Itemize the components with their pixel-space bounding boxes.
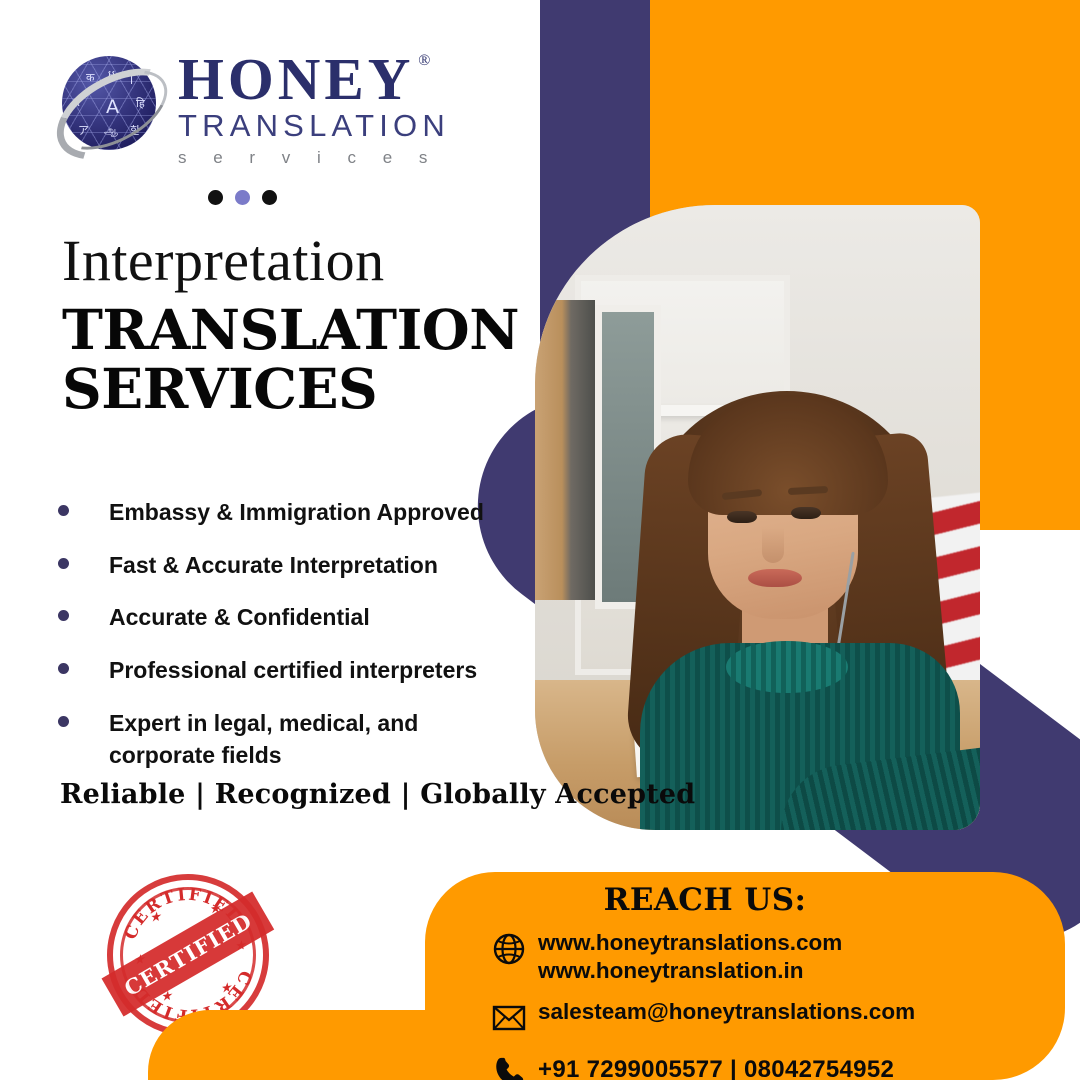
logo-honey-text: HONEY xyxy=(178,46,414,112)
phone-text[interactable]: +91 7299005577 | 08042754952 xyxy=(538,1051,894,1080)
contact-row-email[interactable]: salesteam@honeytranslations.com xyxy=(492,997,1052,1039)
globe-icon xyxy=(492,928,538,970)
contact-details: www.honeytranslations.com www.honeytrans… xyxy=(492,928,1052,1080)
headline-main-line-2: SERVICES xyxy=(62,357,532,422)
bullet-dot-icon xyxy=(58,558,69,569)
contact-row-phone[interactable]: +91 7299005577 | 08042754952 xyxy=(492,1051,1052,1080)
list-item: Fast & Accurate Interpretation xyxy=(58,549,528,582)
contact-row-website[interactable]: www.honeytranslations.com www.honeytrans… xyxy=(492,928,1052,985)
photo-eye-left xyxy=(727,511,757,523)
globe-logo-icon: क អ ا ગ A हि ア ஆ 한 xyxy=(52,48,168,166)
bullet-dot-icon xyxy=(58,716,69,727)
tagline: Reliable | Recognized | Globally Accepte… xyxy=(60,779,695,810)
decorative-dots xyxy=(208,190,277,205)
contact-panel-tail xyxy=(148,1010,448,1080)
dot-1 xyxy=(208,190,223,205)
dot-3 xyxy=(262,190,277,205)
photo-collar xyxy=(726,641,848,693)
feature-list: Embassy & Immigration Approved Fast & Ac… xyxy=(58,496,528,792)
website-line-2[interactable]: www.honeytranslation.in xyxy=(538,958,803,983)
bullet-dot-icon xyxy=(58,610,69,621)
photo-content xyxy=(535,205,980,830)
list-item-label: Embassy & Immigration Approved xyxy=(109,496,484,529)
list-item-label: Expert in legal, medical, and corporate … xyxy=(109,707,464,772)
list-item-label: Accurate & Confidential xyxy=(109,601,370,634)
photo-books xyxy=(535,300,595,600)
bullet-dot-icon xyxy=(58,505,69,516)
logo-name-primary: HONEY ® xyxy=(178,52,414,106)
list-item: Accurate & Confidential xyxy=(58,601,528,634)
website-text[interactable]: www.honeytranslations.com www.honeytrans… xyxy=(538,928,842,985)
poster-canvas: क អ ا ગ A हि ア ஆ 한 HONEY xyxy=(0,0,1080,1080)
list-item-label: Professional certified interpreters xyxy=(109,654,477,687)
bullet-dot-icon xyxy=(58,663,69,674)
headline-block: Interpretation TRANSLATION SERVICES xyxy=(62,232,532,422)
website-line-1[interactable]: www.honeytranslations.com xyxy=(538,930,842,955)
envelope-icon xyxy=(492,997,538,1039)
headline-main-line-1: TRANSLATION xyxy=(62,298,532,363)
photo-lips xyxy=(748,569,802,587)
logo-name-secondary: TRANSLATION xyxy=(178,108,450,144)
logo-name-tertiary: s e r v i c e s xyxy=(178,148,450,168)
email-text[interactable]: salesteam@honeytranslations.com xyxy=(538,997,915,1026)
dot-2 xyxy=(235,190,250,205)
phone-icon xyxy=(492,1051,538,1080)
photo-woman xyxy=(630,355,960,830)
list-item: Professional certified interpreters xyxy=(58,654,528,687)
interpreter-photo xyxy=(535,205,980,830)
list-item: Expert in legal, medical, and corporate … xyxy=(58,707,528,772)
photo-eye-right xyxy=(791,507,821,519)
brand-logo[interactable]: क អ ا ગ A हि ア ஆ 한 HONEY xyxy=(52,48,472,168)
photo-nose xyxy=(762,527,784,563)
headline-script-line: Interpretation xyxy=(62,232,532,290)
registered-trademark-icon: ® xyxy=(418,54,434,69)
contact-heading: REACH US: xyxy=(425,882,985,918)
list-item-label: Fast & Accurate Interpretation xyxy=(109,549,438,582)
list-item: Embassy & Immigration Approved xyxy=(58,496,528,529)
